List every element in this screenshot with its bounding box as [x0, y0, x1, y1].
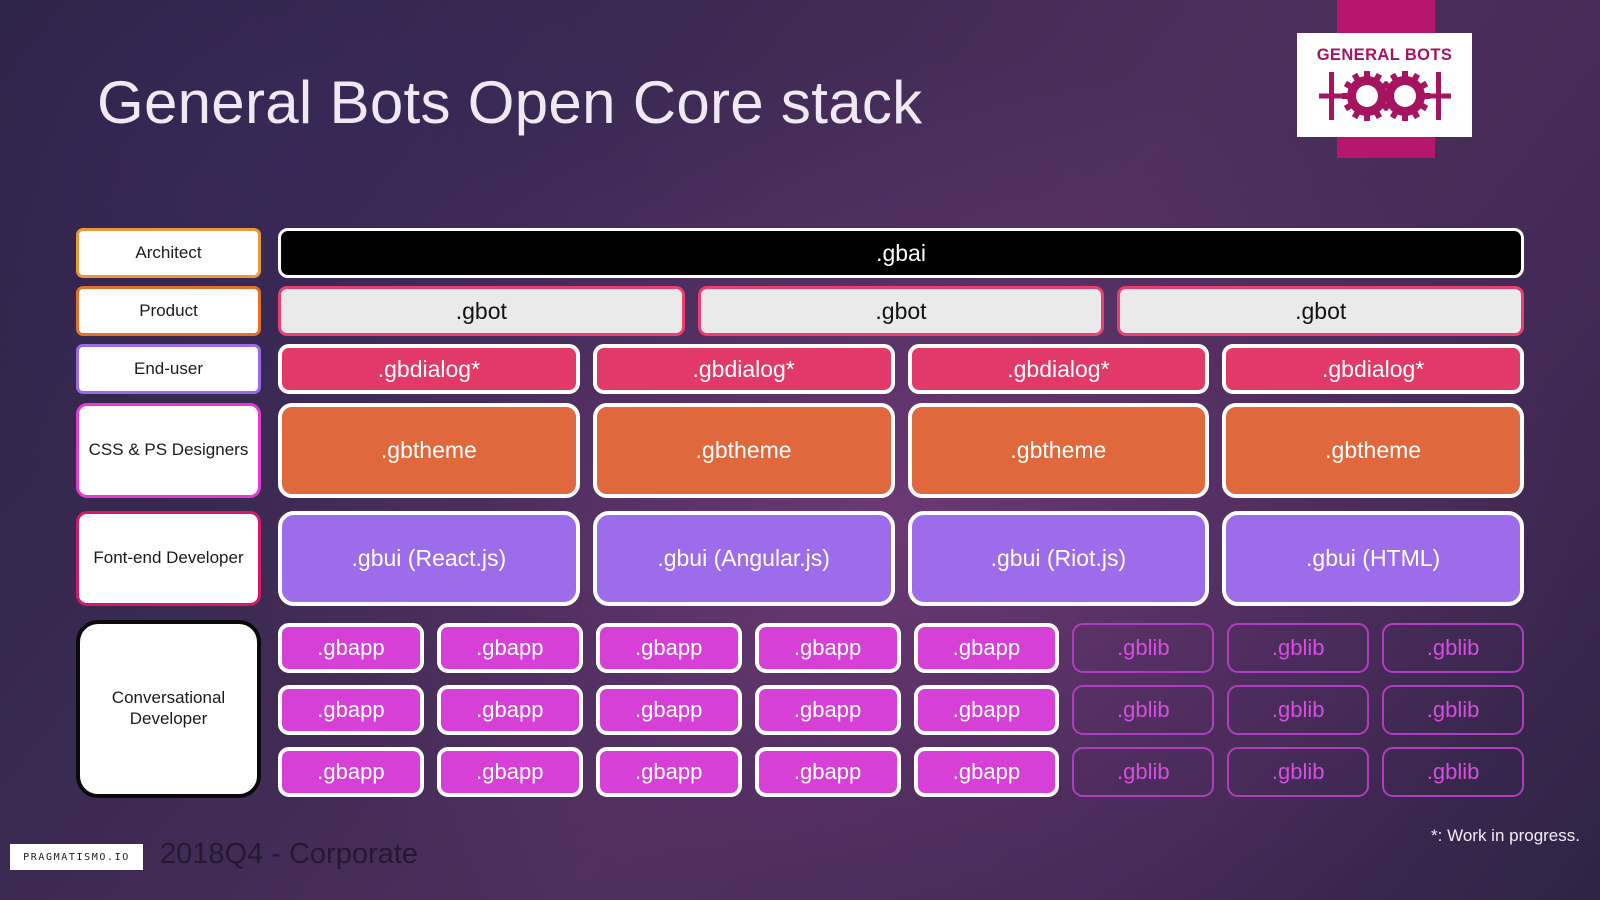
cell-gbapp[interactable]: .gbapp: [755, 747, 901, 797]
row-cells-css-ps-designers: .gbtheme .gbtheme .gbtheme .gbtheme: [278, 403, 1524, 498]
cell-gbapp[interactable]: .gbapp: [596, 747, 742, 797]
grid-row: .gbapp .gbapp .gbapp .gbapp .gbapp .gbli…: [278, 747, 1524, 797]
cell-gbapp[interactable]: .gbapp: [278, 623, 424, 673]
stack-row-end-user: End-user .gbdialog* .gbdialog* .gbdialog…: [76, 344, 1524, 394]
cell-gblib[interactable]: .gblib: [1072, 623, 1214, 673]
cell-gblib[interactable]: .gblib: [1382, 685, 1524, 735]
cell-gbdialog[interactable]: .gbdialog*: [278, 344, 580, 394]
cell-gblib[interactable]: .gblib: [1072, 747, 1214, 797]
role-label-end-user[interactable]: End-user: [76, 344, 261, 394]
cell-gblib[interactable]: .gblib: [1227, 623, 1369, 673]
cell-gbui-react[interactable]: .gbui (React.js): [278, 511, 580, 606]
cell-gbtheme[interactable]: .gbtheme: [1222, 403, 1524, 498]
cell-gbapp[interactable]: .gbapp: [914, 623, 1060, 673]
cell-gbapp[interactable]: .gbapp: [755, 623, 901, 673]
cell-gbot[interactable]: .gbot: [278, 286, 685, 336]
general-bots-logo: GENERAL BOTS: [1297, 33, 1472, 137]
cell-gbtheme[interactable]: .gbtheme: [278, 403, 580, 498]
pragmatismo-logo: PRAGMATISMO.IO: [10, 844, 143, 870]
cell-gbapp[interactable]: .gbapp: [596, 623, 742, 673]
cell-gbapp[interactable]: .gbapp: [437, 623, 583, 673]
slide-canvas: General Bots Open Core stack GENERAL BOT…: [0, 0, 1600, 900]
page-title: General Bots Open Core stack: [97, 68, 922, 137]
cell-gbapp[interactable]: .gbapp: [914, 685, 1060, 735]
cell-gbdialog[interactable]: .gbdialog*: [908, 344, 1210, 394]
cell-gbapp[interactable]: .gbapp: [437, 747, 583, 797]
stack-row-architect: Architect .gbai: [76, 228, 1524, 278]
footer-note: 2018Q4 - Corporate: [160, 838, 418, 871]
cell-gbapp[interactable]: .gbapp: [437, 685, 583, 735]
stack-row-css-ps-designers: CSS & PS Designers .gbtheme .gbtheme .gb…: [76, 403, 1524, 498]
cell-gblib[interactable]: .gblib: [1382, 747, 1524, 797]
role-label-conversational-developer[interactable]: Conversational Developer: [76, 620, 261, 798]
stack-row-product: Product .gbot .gbot .gbot: [76, 286, 1524, 336]
gbapp-gblib-grid: .gbapp .gbapp .gbapp .gbapp .gbapp .gbli…: [278, 623, 1524, 798]
cell-gbapp[interactable]: .gbapp: [596, 685, 742, 735]
cell-gbtheme[interactable]: .gbtheme: [908, 403, 1210, 498]
cell-gbapp[interactable]: .gbapp: [914, 747, 1060, 797]
cell-gblib[interactable]: .gblib: [1382, 623, 1524, 673]
cell-gbui-html[interactable]: .gbui (HTML): [1222, 511, 1524, 606]
cell-gbui-angular[interactable]: .gbui (Angular.js): [593, 511, 895, 606]
cell-gblib[interactable]: .gblib: [1072, 685, 1214, 735]
row-cells-product: .gbot .gbot .gbot: [278, 286, 1524, 336]
row-cells-end-user: .gbdialog* .gbdialog* .gbdialog* .gbdial…: [278, 344, 1524, 394]
work-in-progress-footnote: *: Work in progress.: [1431, 826, 1580, 846]
role-label-product[interactable]: Product: [76, 286, 261, 336]
grid-row: .gbapp .gbapp .gbapp .gbapp .gbapp .gbli…: [278, 623, 1524, 673]
two-gears-with-bars-icon: [1315, 68, 1455, 124]
row-cells-architect: .gbai: [278, 228, 1524, 278]
logo-wordmark: GENERAL BOTS: [1317, 46, 1453, 65]
cell-gbai[interactable]: .gbai: [278, 228, 1524, 278]
cell-gbtheme[interactable]: .gbtheme: [593, 403, 895, 498]
role-label-architect[interactable]: Architect: [76, 228, 261, 278]
row-cells-front-end-developer: .gbui (React.js) .gbui (Angular.js) .gbu…: [278, 511, 1524, 606]
cell-gbot[interactable]: .gbot: [698, 286, 1105, 336]
cell-gblib[interactable]: .gblib: [1227, 685, 1369, 735]
stack-row-front-end-developer: Font-end Developer .gbui (React.js) .gbu…: [76, 511, 1524, 606]
role-label-front-end-developer[interactable]: Font-end Developer: [76, 511, 261, 606]
cell-gbdialog[interactable]: .gbdialog*: [1222, 344, 1524, 394]
cell-gbapp[interactable]: .gbapp: [278, 685, 424, 735]
grid-row: .gbapp .gbapp .gbapp .gbapp .gbapp .gbli…: [278, 685, 1524, 735]
cell-gbdialog[interactable]: .gbdialog*: [593, 344, 895, 394]
cell-gbapp[interactable]: .gbapp: [755, 685, 901, 735]
role-label-css-ps-designers[interactable]: CSS & PS Designers: [76, 403, 261, 498]
stack-diagram: Architect .gbai Product .gbot .gbot .gbo…: [76, 228, 1524, 798]
pragmatismo-logo-text: PRAGMATISMO.IO: [23, 852, 130, 863]
cell-gbui-riot[interactable]: .gbui (Riot.js): [908, 511, 1210, 606]
cell-gbapp[interactable]: .gbapp: [278, 747, 424, 797]
cell-gblib[interactable]: .gblib: [1227, 747, 1369, 797]
cell-gbot[interactable]: .gbot: [1117, 286, 1524, 336]
